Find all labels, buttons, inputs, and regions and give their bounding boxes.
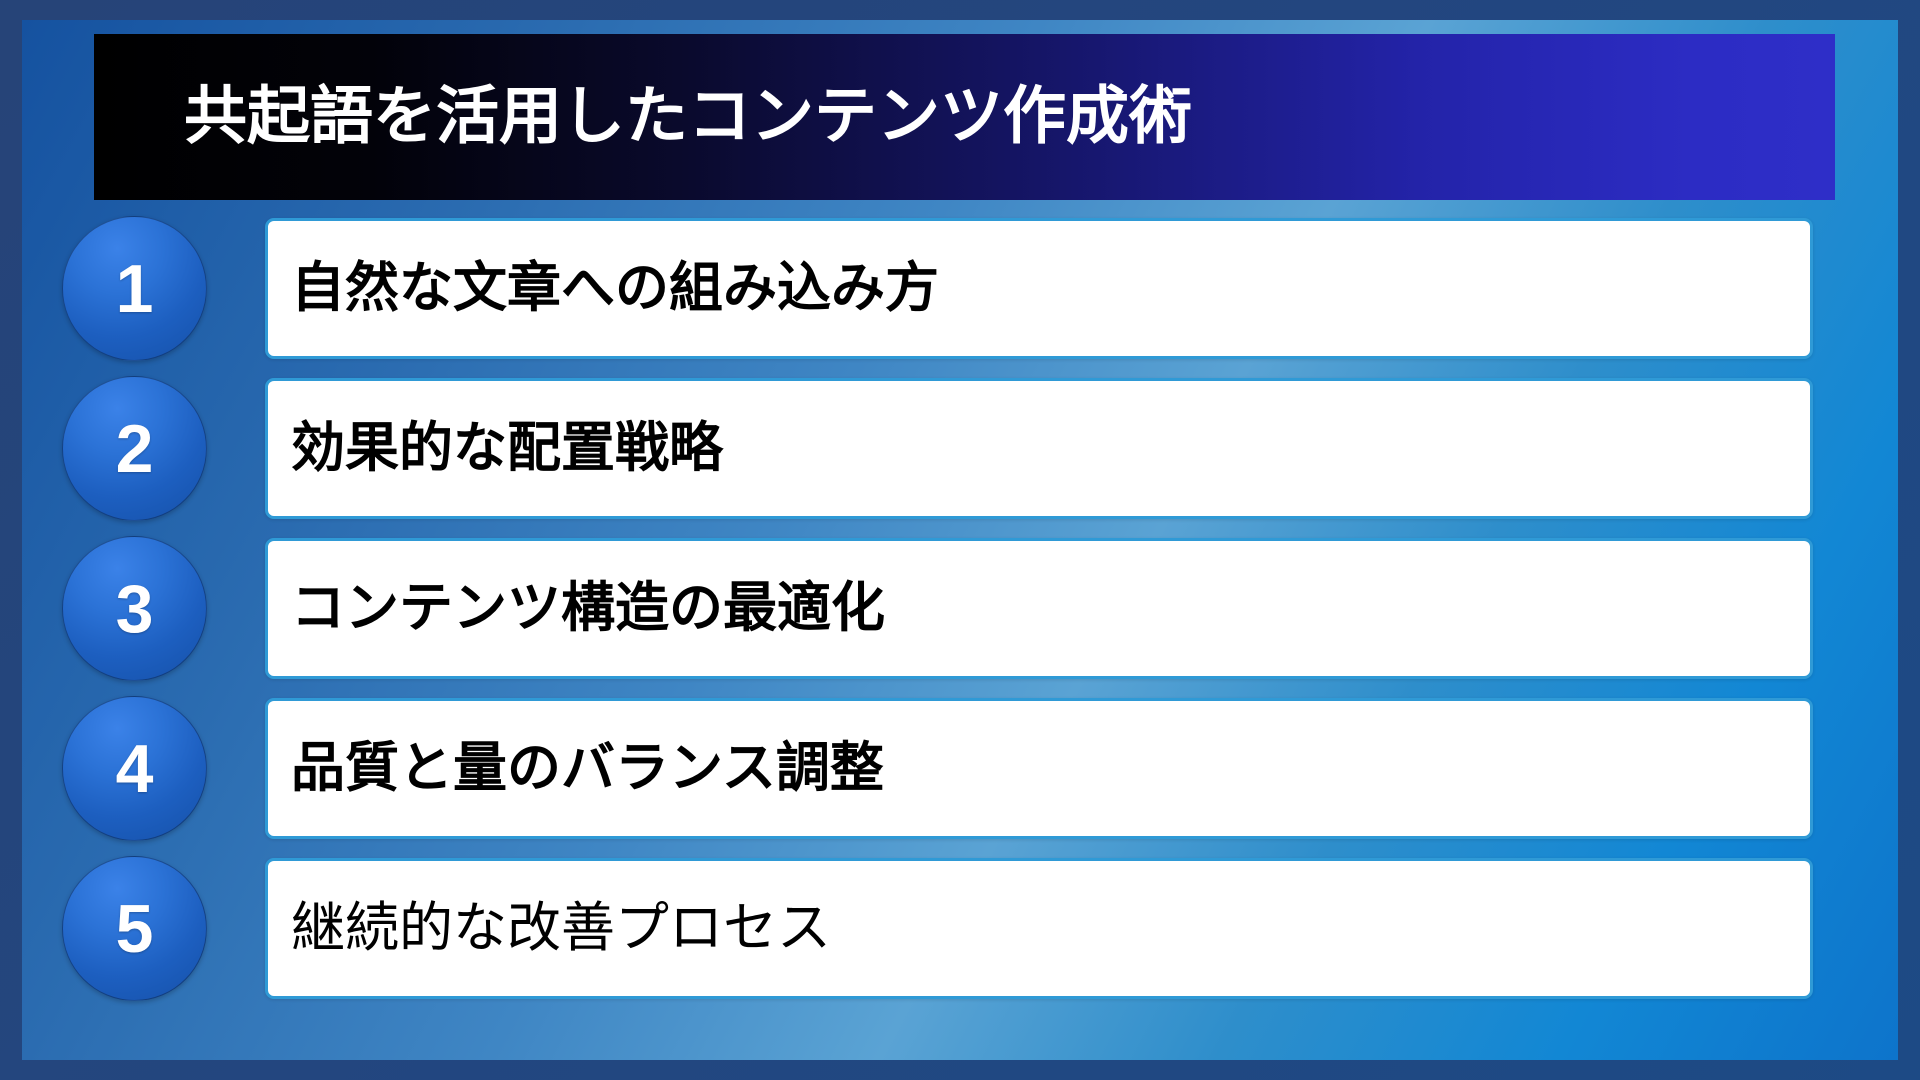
item-number-badge: 1 xyxy=(62,216,207,361)
list-item[interactable]: 1 自然な文章への組み込み方 xyxy=(22,216,1898,361)
list-item[interactable]: 5 継続的な改善プロセス xyxy=(22,856,1898,1001)
item-card[interactable]: 自然な文章への組み込み方 xyxy=(265,218,1813,359)
item-card[interactable]: 継続的な改善プロセス xyxy=(265,858,1813,999)
list-item[interactable]: 2 効果的な配置戦略 xyxy=(22,376,1898,521)
slide-canvas: 共起語を活用したコンテンツ作成術 1 自然な文章への組み込み方 2 効果的な配置… xyxy=(22,20,1898,1060)
item-number-badge: 4 xyxy=(62,696,207,841)
numbered-list: 1 自然な文章への組み込み方 2 効果的な配置戦略 3 コン xyxy=(22,216,1898,1016)
page-title: 共起語を活用したコンテンツ作成術 xyxy=(184,82,1192,151)
item-number-label: 5 xyxy=(116,895,154,963)
item-label: 継続的な改善プロセス xyxy=(268,897,831,959)
list-item[interactable]: 3 コンテンツ構造の最適化 xyxy=(22,536,1898,681)
item-number-label: 2 xyxy=(116,415,154,483)
item-number-badge: 5 xyxy=(62,856,207,1001)
item-label: コンテンツ構造の最適化 xyxy=(268,577,885,639)
item-card[interactable]: コンテンツ構造の最適化 xyxy=(265,538,1813,679)
item-number-label: 4 xyxy=(116,735,154,803)
item-label: 効果的な配置戦略 xyxy=(268,417,723,479)
item-card[interactable]: 品質と量のバランス調整 xyxy=(265,698,1813,839)
item-number-label: 1 xyxy=(116,255,154,323)
item-label: 品質と量のバランス調整 xyxy=(268,737,884,799)
slide-root: 共起語を活用したコンテンツ作成術 1 自然な文章への組み込み方 2 効果的な配置… xyxy=(0,0,1920,1080)
item-number-label: 3 xyxy=(116,575,154,643)
title-banner: 共起語を活用したコンテンツ作成術 xyxy=(94,34,1835,200)
item-number-badge: 2 xyxy=(62,376,207,521)
item-label: 自然な文章への組み込み方 xyxy=(268,257,939,319)
list-item[interactable]: 4 品質と量のバランス調整 xyxy=(22,696,1898,841)
item-number-badge: 3 xyxy=(62,536,207,681)
item-card[interactable]: 効果的な配置戦略 xyxy=(265,378,1813,519)
